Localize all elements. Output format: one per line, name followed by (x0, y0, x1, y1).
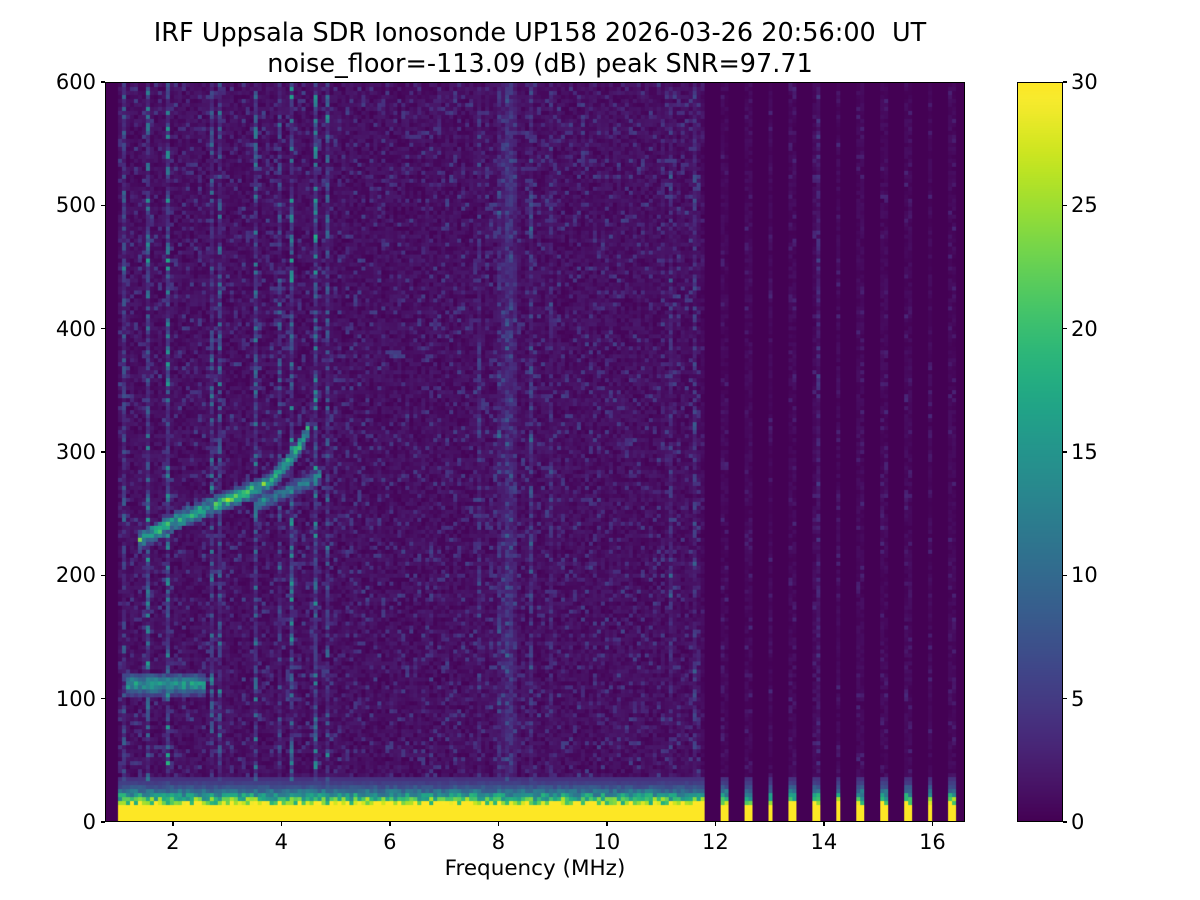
figure-title-block: IRF Uppsala SDR Ionosonde UP158 2026-03-… (0, 18, 1080, 80)
x-tick-label: 6 (360, 829, 420, 855)
colorbar-label: SNR (dB) (1108, 0, 1136, 110)
y-tick-mark (101, 698, 105, 699)
x-tick-label: 14 (794, 829, 854, 855)
colorbar-tick-mark (1063, 698, 1067, 699)
colorbar-tick-mark (1063, 328, 1067, 329)
y-tick-mark (101, 451, 105, 452)
y-axis-label: Virtual range (km) (6, 0, 34, 110)
ionogram-plot-area[interactable] (105, 82, 965, 822)
y-tick-mark (101, 575, 105, 576)
y-tick-label: 500 (56, 192, 96, 218)
colorbar-tick-label: 5 (1071, 686, 1084, 712)
y-axis: 0100200300400500600 (0, 82, 105, 822)
y-tick-label: 200 (56, 562, 96, 588)
x-tick-label: 10 (577, 829, 637, 855)
x-tick-mark (715, 822, 716, 826)
figure-title-line-1: IRF Uppsala SDR Ionosonde UP158 2026-03-… (0, 18, 1080, 49)
x-tick-mark (498, 822, 499, 826)
x-tick-mark (823, 822, 824, 826)
colorbar-tick-mark (1063, 81, 1067, 82)
y-tick-label: 0 (83, 809, 96, 835)
y-tick-mark (101, 81, 105, 82)
x-tick-label: 8 (468, 829, 528, 855)
x-axis-label: Frequency (MHz) (105, 855, 965, 883)
x-tick-mark (281, 822, 282, 826)
x-tick-mark (932, 822, 933, 826)
y-tick-label: 300 (56, 439, 96, 465)
ionogram-heatmap[interactable] (106, 83, 964, 821)
colorbar-ticks: 051015202530 (1017, 82, 1063, 822)
x-tick-mark (172, 822, 173, 826)
x-tick-mark (606, 822, 607, 826)
colorbar-tick-label: 10 (1071, 562, 1098, 588)
y-tick-mark (101, 205, 105, 206)
x-tick-mark (389, 822, 390, 826)
x-tick-label: 4 (251, 829, 311, 855)
colorbar-tick-mark (1063, 575, 1067, 576)
colorbar-tick-mark (1063, 451, 1067, 452)
colorbar-tick-mark (1063, 205, 1067, 206)
figure-title-line-2: noise_floor=-113.09 (dB) peak SNR=97.71 (0, 49, 1080, 80)
colorbar-tick-label: 25 (1071, 192, 1098, 218)
y-tick-label: 100 (56, 686, 96, 712)
colorbar-tick-label: 30 (1071, 69, 1098, 95)
y-tick-mark (101, 328, 105, 329)
colorbar-tick-label: 15 (1071, 439, 1098, 465)
ionogram-figure: IRF Uppsala SDR Ionosonde UP158 2026-03-… (0, 0, 1200, 900)
x-tick-label: 16 (902, 829, 962, 855)
colorbar-tick-mark (1063, 821, 1067, 822)
colorbar-tick-label: 20 (1071, 316, 1098, 342)
colorbar-tick-label: 0 (1071, 809, 1084, 835)
x-tick-label: 2 (143, 829, 203, 855)
y-tick-label: 400 (56, 316, 96, 342)
y-tick-label: 600 (56, 69, 96, 95)
x-tick-label: 12 (685, 829, 745, 855)
